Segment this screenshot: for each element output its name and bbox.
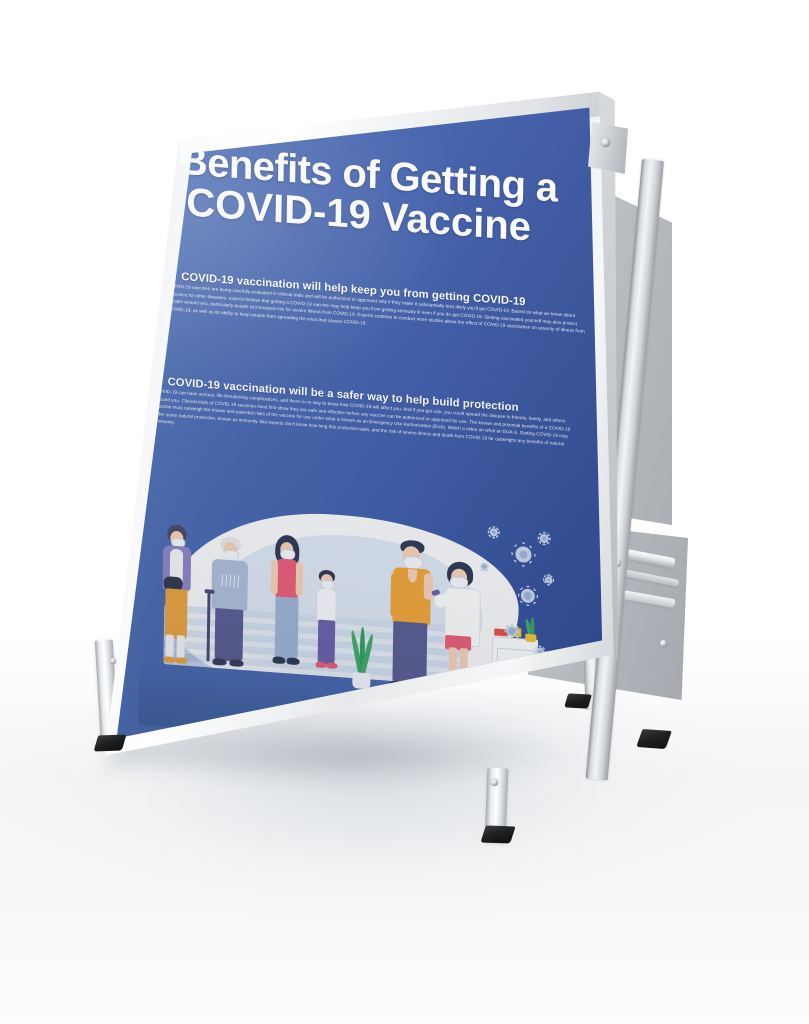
figure-child	[309, 569, 347, 702]
figure-nurse	[435, 560, 497, 724]
screw-icon	[110, 658, 116, 664]
virus-particle-icon	[490, 528, 498, 537]
virus-particle-icon	[540, 534, 549, 544]
front-sign-panel[interactable]: Benefits of Getting a COVID-19 Vaccine C…	[0, 0, 809, 1024]
small-plant	[524, 619, 536, 642]
bare-arm-for-injection	[424, 573, 433, 600]
shoe	[327, 662, 338, 669]
virus-particle-icon	[481, 563, 487, 569]
shoe	[316, 661, 327, 668]
shoe	[459, 690, 471, 697]
arm-sleeve	[390, 573, 401, 618]
virus-particle-icon	[521, 588, 535, 603]
rubber-foot	[480, 825, 515, 843]
figure-elderly-man	[205, 535, 257, 689]
virus-particle-icon	[545, 576, 552, 584]
figure-woman-red-top	[263, 534, 311, 697]
virus-particle-icon	[515, 546, 531, 563]
shoe	[287, 657, 300, 665]
potted-plant	[349, 630, 374, 692]
shoe	[163, 656, 175, 663]
cane-handle	[205, 589, 215, 594]
lower-leg	[166, 634, 174, 659]
legs-trousers	[165, 588, 188, 640]
torso-tank-top	[317, 588, 335, 622]
lower-leg	[177, 635, 185, 660]
top-hinge	[588, 120, 628, 174]
shoe	[229, 659, 243, 667]
hinge-bolt-icon	[601, 138, 610, 147]
legs-trousers	[392, 621, 427, 685]
shoe	[273, 656, 286, 664]
vaccination-illustration	[138, 494, 561, 755]
shoe	[175, 657, 187, 664]
arm	[296, 562, 304, 597]
figure-woman-seated	[153, 523, 199, 676]
torso-top	[276, 558, 299, 600]
legs-trousers	[318, 619, 336, 664]
legs-trousers	[215, 608, 244, 662]
sweater-pattern	[219, 574, 241, 588]
rubber-foot	[94, 735, 127, 752]
shoe	[212, 658, 226, 666]
shoe	[446, 689, 458, 696]
screw-icon	[491, 779, 498, 786]
poster-title: Benefits of Getting a COVID-19 Vaccine	[178, 141, 559, 251]
virus-particle-icon	[506, 625, 517, 637]
walking-cane	[207, 591, 211, 661]
legs-jeans	[275, 596, 299, 660]
arm	[271, 560, 279, 595]
